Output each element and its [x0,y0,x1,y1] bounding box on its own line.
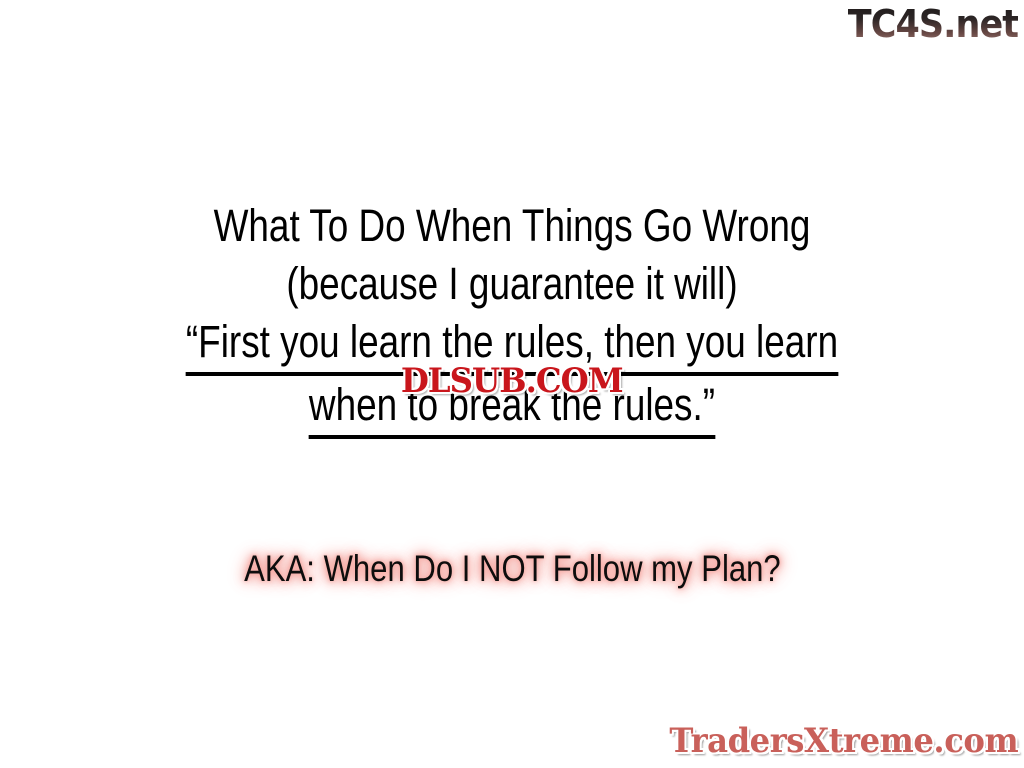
quote-line-2: when to break the rules.” [309,376,715,439]
tc4s-logo-watermark: TC4S.net [848,2,1018,46]
quote-line-2-row: when to break the rules.” [92,376,932,439]
slide-text-block: What To Do When Things Go Wrong (because… [0,197,1024,439]
aka-question-text: AKA: When Do I NOT Follow my Plan? [244,545,781,593]
quote-line-1: “First you learn the rules, then you lea… [186,313,838,376]
quote-line-1-row: “First you learn the rules, then you lea… [92,313,932,376]
title-line-1: What To Do When Things Go Wrong [92,197,932,255]
presentation-slide: TC4S.net What To Do When Things Go Wrong… [0,0,1024,768]
title-line-2: (because I guarantee it will) [92,255,932,313]
tradersxtreme-logo-watermark: TradersXtreme.com [669,720,1018,762]
aka-line-container: AKA: When Do I NOT Follow my Plan? [0,545,1024,593]
